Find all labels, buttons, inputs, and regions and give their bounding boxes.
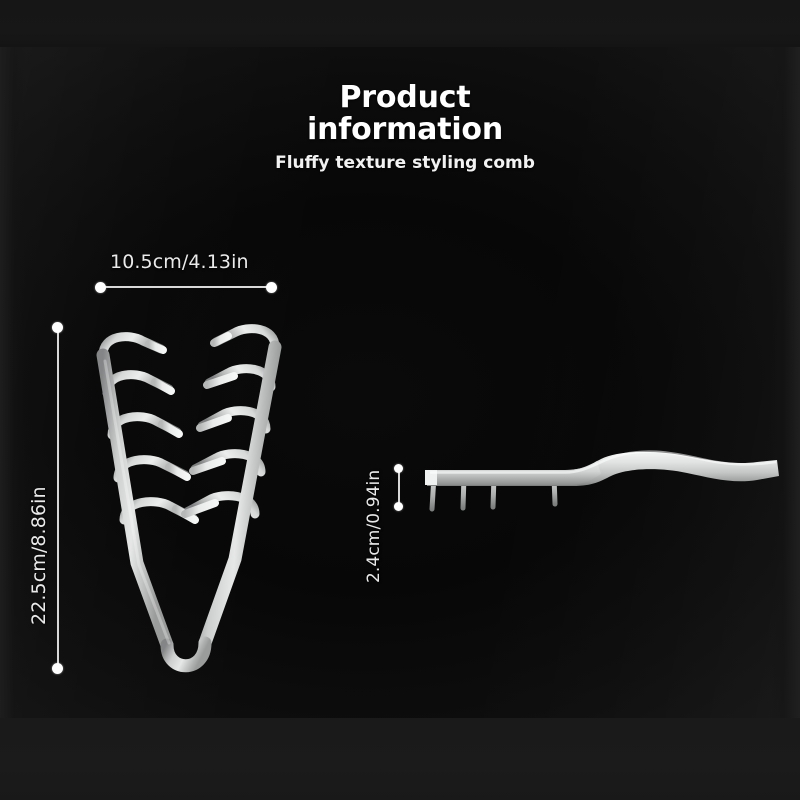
height-dimension-endpoint-top <box>52 322 63 333</box>
width-dimension-endpoint-right <box>266 282 277 293</box>
height-dimension-line <box>57 329 59 669</box>
width-dimension-endpoint-left <box>95 282 106 293</box>
photo-stage-background <box>0 47 800 718</box>
thickness-dimension-endpoint-bottom <box>394 502 403 511</box>
thickness-dimension-line <box>398 470 400 506</box>
thickness-dimension-endpoint-top <box>394 464 403 473</box>
product-information-image: Product information Fluffy texture styli… <box>0 0 800 800</box>
width-dimension-line <box>101 286 269 288</box>
background-band-top <box>0 0 800 47</box>
width-dimension-label: 10.5cm/4.13in <box>110 251 249 273</box>
height-dimension-label: 22.5cm/8.86in <box>28 486 50 625</box>
background-band-bottom <box>0 718 800 800</box>
height-dimension-endpoint-bottom <box>52 663 63 674</box>
thickness-dimension-label: 2.4cm/0.94in <box>364 470 384 583</box>
